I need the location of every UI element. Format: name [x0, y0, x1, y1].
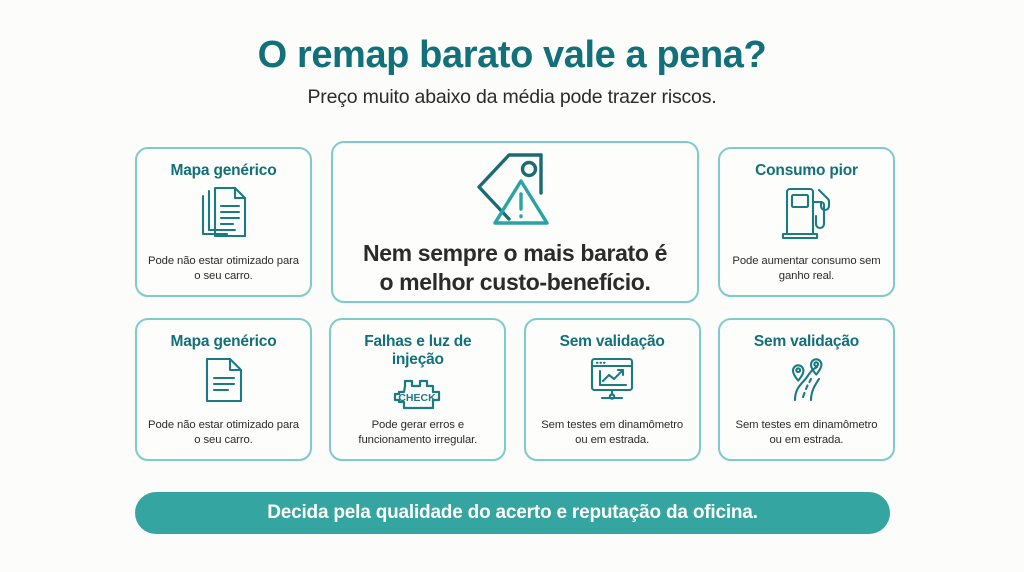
card-falhas-luz-injecao: Falhas e luz de injeção CHECK Pode gerar… — [329, 318, 506, 461]
card-sem-validacao-estrada: Sem validação Sem testes em dinamômetro … — [718, 318, 895, 461]
card-title: Consumo pior — [755, 162, 858, 180]
card-title: Mapa genérico — [171, 162, 277, 180]
road-pins-icon — [781, 357, 831, 401]
dyno-chart-monitor-icon — [588, 357, 636, 401]
document-icon — [204, 357, 244, 403]
price-tag-warning-icon — [469, 147, 561, 233]
card-description: Pode aumentar consumo sem ganho real. — [729, 254, 884, 284]
header: O remap barato vale a pena? Preço muito … — [0, 34, 1024, 109]
card-main-message: Nem sempre o mais barato é o melhor cust… — [331, 141, 699, 303]
card-description: Pode não estar otimizado para o seu carr… — [146, 418, 301, 448]
check-engine-icon: CHECK — [390, 375, 446, 413]
infographic-page: O remap barato vale a pena? Preço muito … — [0, 0, 1024, 572]
card-title: Sem validação — [560, 333, 665, 351]
card-consumo-pior: Consumo pior Pode aumentar consumo sem g… — [718, 147, 895, 297]
fuel-pump-icon — [781, 186, 833, 240]
main-message-line2: o melhor custo-benefício. — [379, 269, 650, 295]
card-mapa-generico-bottom: Mapa genérico Pode não estar otimizado p… — [135, 318, 312, 461]
card-title: Sem validação — [754, 333, 859, 351]
documents-stack-icon — [199, 186, 249, 241]
card-description: Pode não estar otimizado para o seu carr… — [146, 254, 301, 284]
top-card-row: Mapa genérico Pode não estar otimizado p… — [135, 141, 895, 303]
card-title: Falhas e luz de injeção — [340, 333, 495, 369]
card-description: Sem testes em dinamômetro ou em estrada. — [535, 418, 690, 448]
card-sem-validacao-dyno: Sem validação Sem testes em dinamômetro … — [524, 318, 701, 461]
card-description: Pode gerar erros e funcionamento irregul… — [340, 418, 495, 448]
card-title: Mapa genérico — [171, 333, 277, 351]
page-title: O remap barato vale a pena? — [0, 34, 1024, 77]
page-subtitle: Preço muito abaixo da média pode trazer … — [0, 86, 1024, 109]
check-engine-label: CHECK — [398, 392, 436, 404]
cta-banner: Decida pela qualidade do acerto e reputa… — [135, 492, 890, 534]
main-message-line1: Nem sempre o mais barato é — [363, 240, 667, 266]
card-mapa-generico-top: Mapa genérico Pode não estar otimizado p… — [135, 147, 312, 297]
bottom-card-row: Mapa genérico Pode não estar otimizado p… — [135, 318, 895, 461]
card-description: Sem testes em dinamômetro ou em estrada. — [729, 418, 884, 448]
cta-banner-text: Decida pela qualidade do acerto e reputa… — [267, 502, 758, 524]
main-message: Nem sempre o mais barato é o melhor cust… — [363, 239, 667, 297]
